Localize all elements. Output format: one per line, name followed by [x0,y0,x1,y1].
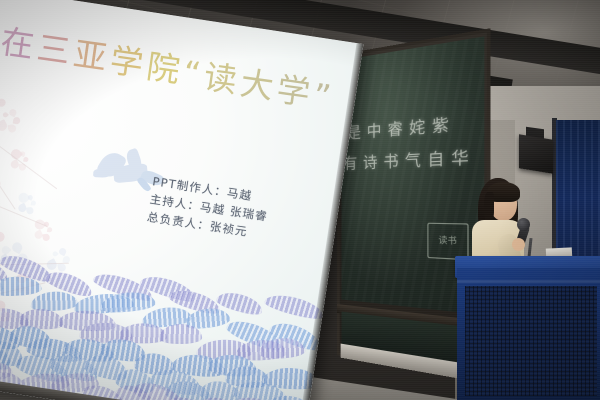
chalk-char: 诗 [363,150,379,173]
chalk-text-line-2: 有 诗 书 气 自 华 [343,145,470,174]
blossom-petal [0,119,8,132]
blossom-petal [47,227,53,233]
wave-crest [159,324,202,344]
projection-screen: 我在三亚学院“读大学” PPT制作人：马越 主持人：马越 张瑞睿 总负责人：张祯… [0,0,363,400]
blossom-petal [7,124,16,133]
chalk-char: 华 [451,145,470,170]
chalk-char: 自 [427,146,445,170]
chalk-text-line-1: 是 中 睿 姹 紫 [347,112,450,143]
microphone-head-icon [517,218,530,231]
projected-slide: 我在三亚学院“读大学” PPT制作人：马越 主持人：马越 张瑞睿 总负责人：张祯… [0,0,363,400]
blossom-petal [43,233,51,241]
chalk-char: 睿 [387,117,403,141]
blossom-branch [0,134,16,210]
wave-decoration [0,229,326,400]
blossom-petal [27,206,35,214]
chalk-char: 中 [367,119,383,142]
chalk-char: 书 [383,149,399,172]
blossom-petal [23,157,29,163]
wall-speaker-icon [519,134,553,173]
slide-credits: PPT制作人：马越 主持人：马越 张瑞睿 总负责人：张祯元 [146,172,272,243]
chalk-char: 气 [405,148,422,172]
blossom-petal [13,117,21,125]
chalk-char: 紫 [432,112,450,137]
blossom-petal [0,219,1,232]
presenter-hand [512,238,525,251]
chalk-char: 姹 [409,114,426,138]
podium-mesh-panel [465,286,597,396]
podium [457,268,600,400]
chalk-drawing-emblem: 读书 [427,223,468,261]
blossom-petal [0,107,1,118]
slide-title-char: ” [311,76,337,118]
lecture-hall-photo: 是 中 睿 姹 紫 有 诗 书 气 自 华 读书 [0,0,600,400]
blossom-petal [31,200,37,206]
blossom-petal [2,111,9,118]
podium-edge-highlight [457,280,600,283]
blossom-petal [0,98,6,107]
